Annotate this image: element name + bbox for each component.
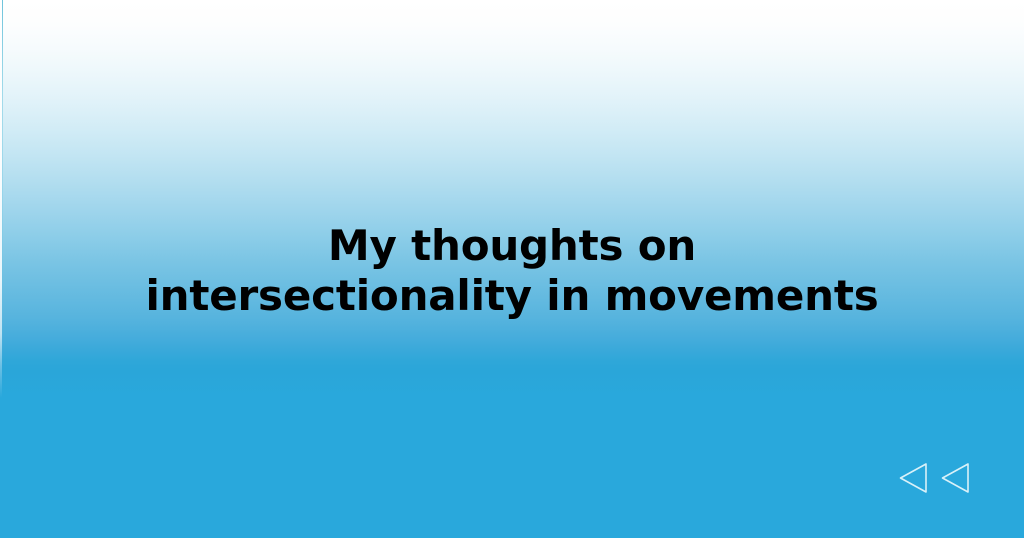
triangle-left-icon [938,459,976,497]
page-title-line-1: My thoughts on [0,221,1024,271]
headline-block: My thoughts on intersectionality in move… [0,0,1024,538]
left-edge-margin [0,0,2,538]
rewind-first-triangle-button[interactable] [896,459,934,497]
rewind-controls[interactable] [896,459,976,497]
article-header-card: My thoughts on intersectionality in move… [0,0,1024,538]
triangle-left-icon [896,459,934,497]
left-edge-hairline [2,0,3,538]
page-title-line-2: intersectionality in movements [0,271,1024,321]
rewind-second-triangle-button[interactable] [938,459,976,497]
